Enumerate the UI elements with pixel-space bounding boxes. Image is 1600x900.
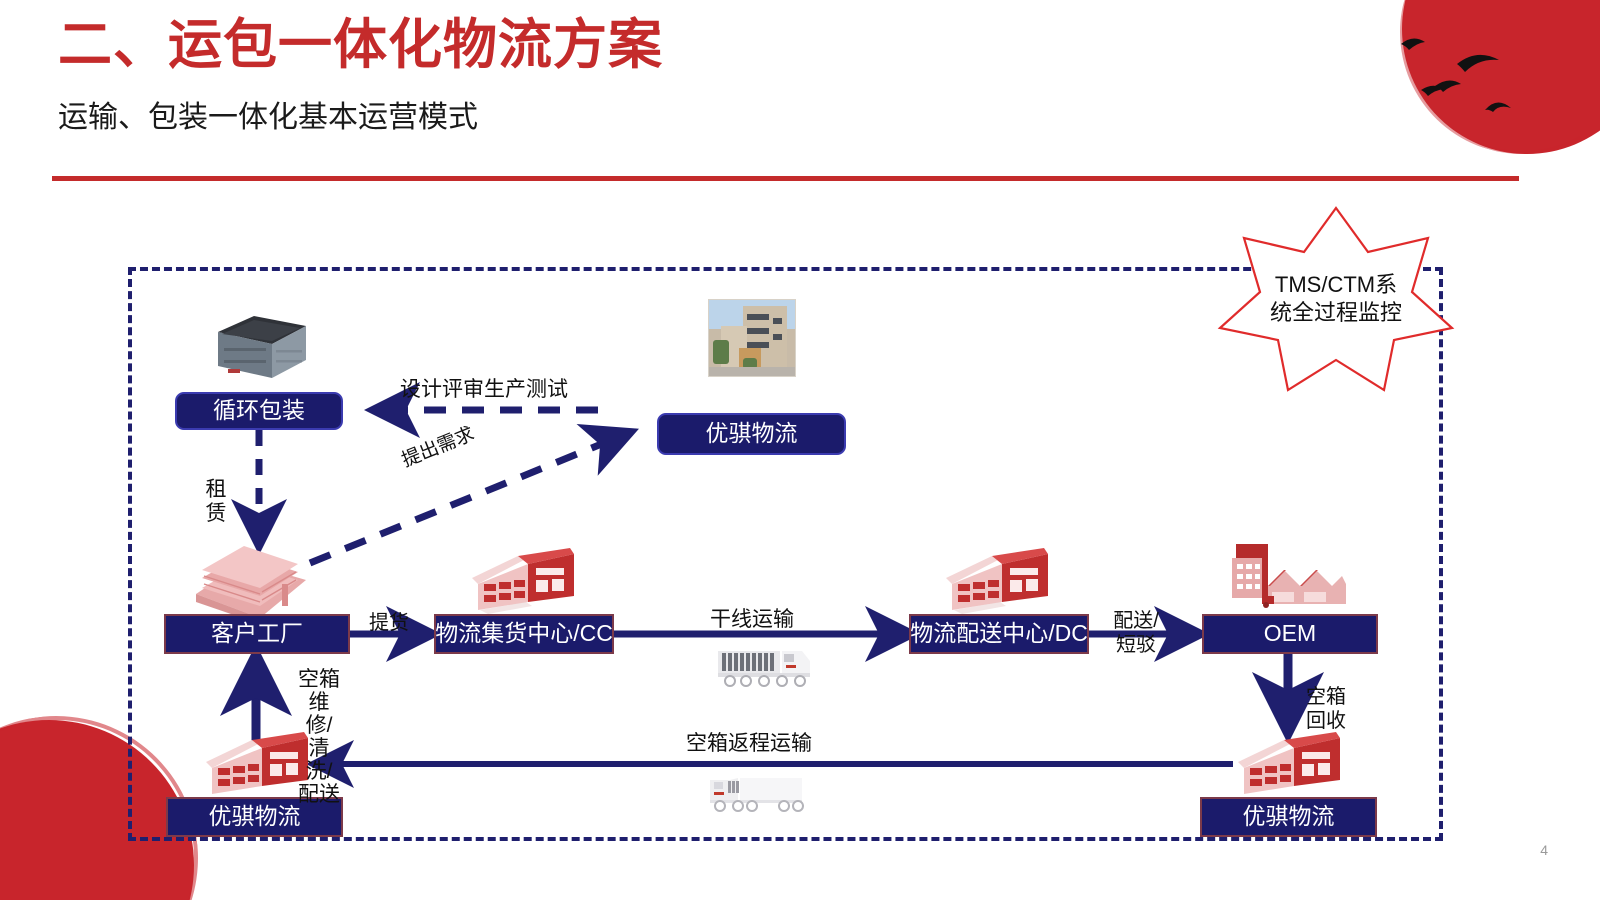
node-youqi-logistics-top[interactable]: 优骐物流	[657, 413, 846, 455]
node-customer-factory-label: 客户工厂	[211, 621, 303, 646]
edge-label-empty-container-return: 空箱返程运输	[686, 732, 812, 756]
warehouse-icon	[466, 540, 582, 618]
edge-label-empty-container-service: 空箱维修/清洗/配送	[296, 668, 342, 807]
node-cyclic-packaging[interactable]: 循环包装	[175, 392, 343, 430]
node-oem-label: OEM	[1264, 621, 1316, 646]
oem-plant-icon	[1228, 536, 1350, 618]
edge-label-lease: 租赁	[203, 478, 229, 527]
node-oem[interactable]: OEM	[1202, 614, 1378, 654]
loaded-truck-icon	[716, 643, 822, 689]
node-consolidation-center[interactable]: 物流集货中心/CC	[434, 614, 614, 654]
edge-label-design-review: 设计评审生产测试	[398, 378, 570, 402]
node-youqi-logistics-bottom-right[interactable]: 优骐物流	[1200, 797, 1377, 837]
edge-label-trunk-transport: 干线运输	[710, 608, 794, 632]
page-subtitle: 运输、包装一体化基本运营模式	[58, 100, 478, 136]
edge-label-delivery-shuttle: 配送/短驳	[1106, 610, 1166, 657]
page-number: 4	[1540, 842, 1548, 858]
flying-birds-icon	[1399, 26, 1519, 116]
edge-label-pickup: 提货	[369, 612, 409, 635]
node-distribution-center-label: 物流配送中心/DC	[910, 621, 1088, 646]
node-cyclic-packaging-label: 循环包装	[213, 398, 305, 423]
office-building-photo	[708, 299, 796, 377]
header-divider-rule	[52, 176, 1519, 181]
node-youqi-logistics-bottom-left-label: 优骐物流	[209, 804, 301, 829]
node-customer-factory[interactable]: 客户工厂	[164, 614, 350, 654]
system-monitoring-burst-label: TMS/CTM系统全过程监控	[1216, 204, 1456, 394]
returnable-container-icon	[210, 310, 310, 382]
node-youqi-logistics-top-label: 优骐物流	[706, 421, 798, 446]
node-distribution-center[interactable]: 物流配送中心/DC	[909, 614, 1089, 654]
warehouse-icon	[940, 540, 1056, 618]
node-consolidation-center-label: 物流集货中心/CC	[435, 621, 613, 646]
slide-canvas: 二、运包一体化物流方案 运输、包装一体化基本运营模式	[0, 0, 1600, 900]
empty-truck-icon	[706, 770, 812, 814]
page-title: 二、运包一体化物流方案	[58, 16, 663, 75]
edge-label-empty-container-recovery: 空箱回收	[1298, 686, 1354, 733]
warehouse-icon	[1232, 724, 1348, 802]
node-youqi-logistics-bottom-right-label: 优骐物流	[1243, 804, 1335, 829]
